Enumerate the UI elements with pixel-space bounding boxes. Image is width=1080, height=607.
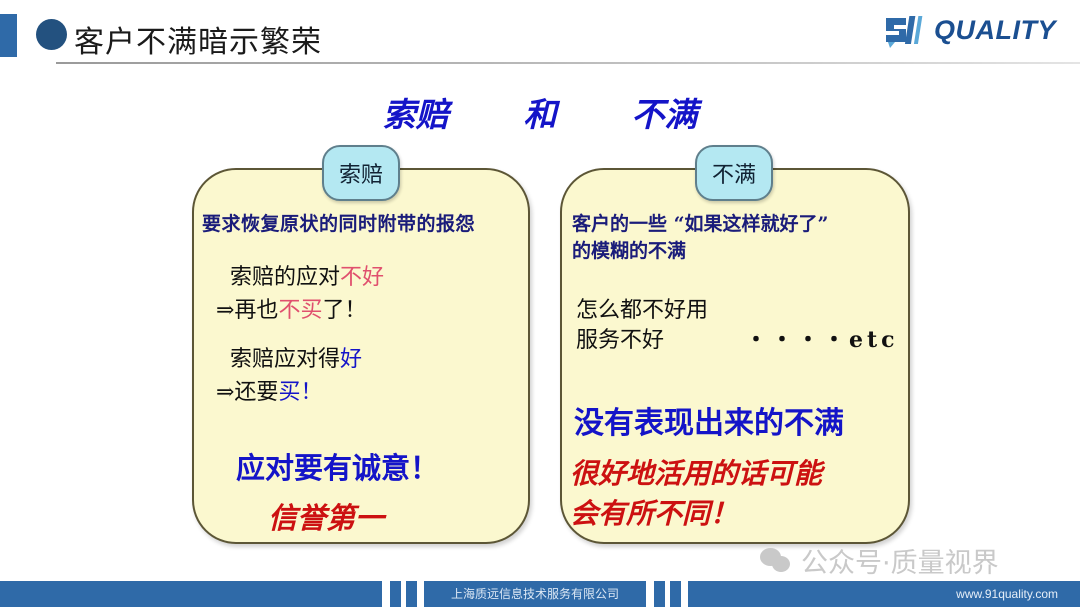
header-accent-bar [0, 14, 17, 57]
claim-card-badge: 索赔 [322, 145, 400, 201]
dissatisfaction-conclusion-red-line-2: 会有所不同！ [570, 492, 738, 532]
footer-segment-5 [654, 581, 665, 607]
claim-line-4-b: 买！ [278, 380, 322, 405]
dissatisfaction-conclusion-blue: 没有表现出来的不满 [574, 398, 844, 442]
claim-line-2-c: 了！ [322, 298, 366, 323]
claim-line-1-a: 索赔的应对 [230, 265, 340, 290]
dissatisfaction-card-badge: 不满 [695, 145, 773, 201]
claim-line-4-a: ⇒还要 [216, 380, 278, 405]
section-title: 索赔 和 不满 [0, 88, 1080, 136]
claim-line-1: 索赔的应对不好 [230, 259, 384, 291]
section-title-left: 索赔 [383, 88, 449, 136]
footer-segment-2 [390, 581, 401, 607]
footer-segment-1 [0, 581, 382, 607]
logo-wordmark: QUALITY [934, 15, 1056, 46]
header-bullet-icon [36, 19, 67, 50]
footer-segment-3 [406, 581, 417, 607]
footer-bar: 上海质远信息技术服务有限公司 www.91quality.com [0, 581, 1080, 607]
claim-line-1-b: 不好 [340, 265, 384, 290]
footer-url[interactable]: www.91quality.com [956, 581, 1058, 607]
page-title: 客户不满暗示繁荣 [74, 17, 322, 61]
claim-conclusion-blue: 应对要有诚意！ [236, 445, 439, 487]
wechat-watermark: 公众号·质量视界 [760, 541, 999, 580]
dissatisfaction-heading-line-2: 的模糊的不满 [572, 236, 686, 263]
brand-logo: QUALITY [882, 12, 1056, 48]
logo-mark-icon [882, 12, 928, 48]
claim-line-2-b: 不买 [278, 298, 322, 323]
slide-canvas: 客户不满暗示繁荣 QUALITY 索赔 和 不满 索赔 要求恢复原状的同时附带的… [0, 0, 1080, 607]
wechat-icon [760, 548, 792, 574]
claim-line-3: 索赔应对得好 [230, 341, 362, 373]
footer-company: 上海质远信息技术服务有限公司 [424, 581, 646, 607]
dissatisfaction-item-1: 怎么都不好用 [576, 292, 708, 324]
claim-card-heading: 要求恢复原状的同时附带的报怨 [202, 209, 475, 236]
header-divider [56, 62, 1080, 64]
section-title-middle: 和 [524, 88, 557, 136]
claim-line-2-a: ⇒再也 [216, 298, 278, 323]
dissatisfaction-heading-line-1: 客户的一些 “如果这样就好了” [572, 209, 828, 236]
section-title-right: 不满 [631, 88, 697, 136]
dissatisfaction-item-2: 服务不好 [576, 322, 664, 354]
dissatisfaction-etc: ・・・・etc [745, 322, 899, 354]
claim-line-4: ⇒还要买！ [216, 374, 322, 406]
footer-segment-6 [670, 581, 681, 607]
watermark-text: 公众号·质量视界 [801, 541, 999, 580]
dissatisfaction-conclusion-red-line-1: 很好地活用的话可能 [570, 452, 822, 492]
claim-line-2: ⇒再也不买了！ [216, 292, 366, 324]
claim-line-3-a: 索赔应对得 [230, 347, 340, 372]
claim-line-3-b: 好 [340, 347, 362, 372]
claim-conclusion-red: 信誉第一 [268, 495, 384, 537]
